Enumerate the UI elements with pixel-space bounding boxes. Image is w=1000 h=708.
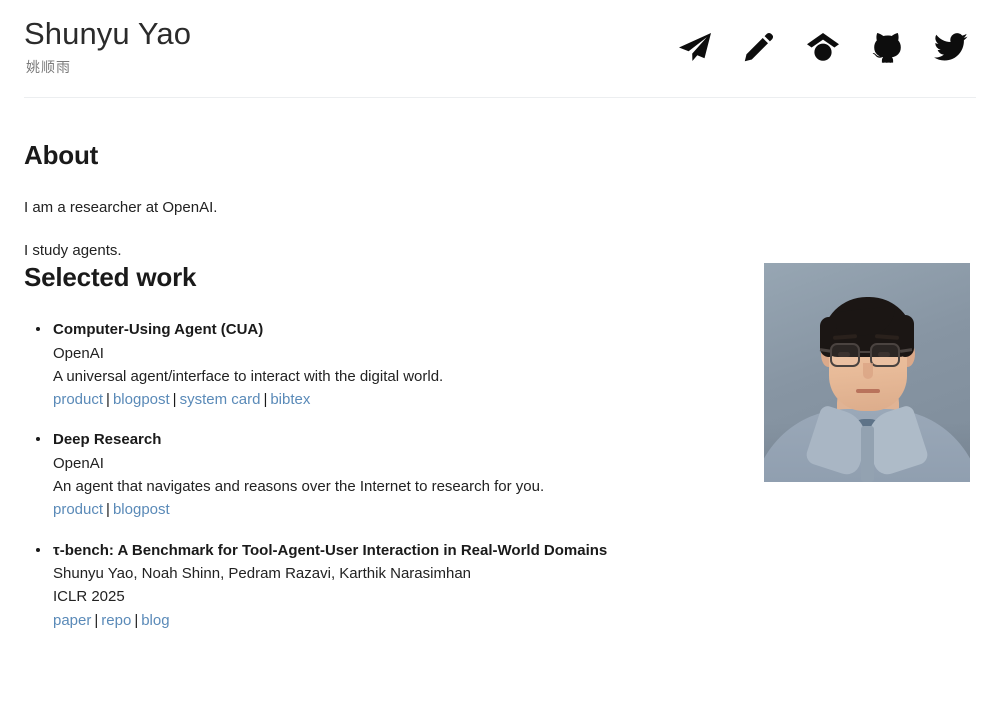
photo-shirt-placket	[861, 426, 874, 482]
link-separator: |	[91, 612, 101, 629]
about-heading: About	[24, 140, 976, 171]
photo-glasses-bridge	[860, 351, 872, 354]
about-paragraph-1: I am a researcher at OpenAI.	[24, 197, 976, 219]
work-conference: ICLR 2025	[53, 585, 976, 608]
page-root: Shunyu Yao 姚顺雨	[0, 0, 1000, 708]
link-separator: |	[103, 391, 113, 408]
graduation-cap-icon[interactable]	[804, 28, 842, 66]
link-separator: |	[103, 501, 113, 518]
link-repo[interactable]: repo	[101, 612, 131, 629]
page-title: Shunyu Yao	[24, 16, 191, 52]
link-blogpost[interactable]: blogpost	[113, 391, 170, 408]
link-separator: |	[131, 612, 141, 629]
pencil-icon[interactable]	[740, 28, 778, 66]
photo-glasses-lens-right	[870, 343, 900, 367]
main-content: About I am a researcher at OpenAI. I stu…	[24, 98, 976, 632]
link-separator: |	[260, 391, 270, 408]
social-links	[676, 14, 976, 66]
list-item: τ-bench: A Benchmark for Tool-Agent-User…	[24, 540, 976, 632]
work-title: τ-bench: A Benchmark for Tool-Agent-User…	[53, 540, 976, 563]
photo-mouth	[856, 389, 880, 393]
paper-plane-icon[interactable]	[676, 28, 714, 66]
link-product[interactable]: product	[53, 391, 103, 408]
github-icon[interactable]	[868, 28, 906, 66]
photo-nose	[863, 363, 873, 379]
link-paper[interactable]: paper	[53, 612, 91, 629]
work-links: paper|repo|blog	[53, 609, 976, 632]
link-separator: |	[170, 391, 180, 408]
link-bibtex[interactable]: bibtex	[270, 391, 310, 408]
link-product[interactable]: product	[53, 501, 103, 518]
link-system-card[interactable]: system card	[180, 391, 261, 408]
site-header: Shunyu Yao 姚顺雨	[24, 0, 976, 98]
link-blogpost[interactable]: blogpost	[113, 501, 170, 518]
name-block: Shunyu Yao 姚顺雨	[24, 14, 191, 77]
photo-glasses-lens-left	[830, 343, 860, 367]
twitter-icon[interactable]	[932, 28, 970, 66]
work-links: product|blogpost	[53, 498, 976, 521]
about-paragraph-2: I study agents.	[24, 240, 976, 262]
link-blog[interactable]: blog	[141, 612, 169, 629]
work-authors: Shunyu Yao, Noah Shinn, Pedram Razavi, K…	[53, 562, 976, 585]
profile-photo	[764, 263, 970, 482]
page-subtitle-cjk: 姚顺雨	[26, 57, 191, 77]
